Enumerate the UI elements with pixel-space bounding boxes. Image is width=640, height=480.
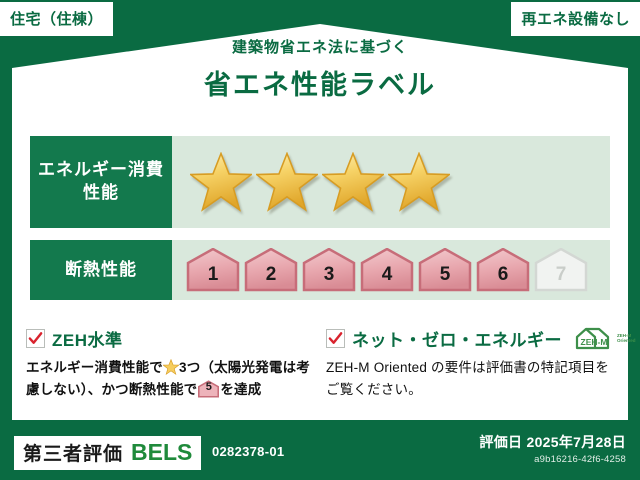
evaluation-id: a9b16216-42f6-4258 — [534, 454, 626, 465]
insulation-grade-scale: 1 2 3 4 5 6 — [172, 240, 610, 300]
house-grade-icon: 3 — [302, 248, 356, 292]
net-zero-energy-title: ネット・ゼロ・エネルギー — [352, 326, 562, 351]
zeh-standard-body: エネルギー消費性能で3つ（太陽光発電は考慮しない）、かつ断熱性能で5を達成 — [26, 357, 316, 401]
house-grade-icon: 1 — [186, 248, 240, 292]
zeh-m-logo-caption: ZEH-M Oriented — [617, 333, 636, 343]
net-zero-energy-note: ネット・ゼロ・エネルギー ZEH-M ZEH-M Oriented ZEH-M … — [326, 326, 616, 401]
zeh-body-part3: を達成 — [220, 382, 261, 397]
bels-badge: 第三者評価 BELS — [14, 436, 201, 470]
svg-text:ZEH-M: ZEH-M — [581, 337, 608, 347]
grade-value: 6 — [498, 264, 509, 292]
energy-performance-label: エネルギー消費性能 — [30, 136, 172, 228]
zeh-checkbox — [26, 329, 45, 348]
energy-performance-row: エネルギー消費性能 — [30, 136, 610, 228]
grade-value: 5 — [440, 264, 451, 292]
grade-value: 1 — [208, 264, 219, 292]
page-title: 省エネ性能ラベル — [0, 63, 640, 102]
grade-value: 4 — [382, 264, 393, 292]
net-zero-energy-body: ZEH-M Oriented の要件は評価書の特記項目をご覧ください。 — [326, 357, 616, 401]
bels-jp-label: 第三者評価 — [23, 439, 123, 466]
title-subtitle: 建築物省エネ法に基づく — [0, 36, 640, 57]
building-type-tag: 住宅（住棟） — [0, 2, 113, 36]
zeh-standard-title: ZEH水準 — [52, 326, 123, 351]
energy-performance-label: 住宅（住棟） 再エネ設備なし 建築物省エネ法に基づく 省エネ性能ラベル エネルギ… — [0, 0, 640, 480]
star-icon — [388, 152, 450, 212]
zeh-m-caption-line2: Oriented — [617, 338, 636, 343]
label-title-group: 建築物省エネ法に基づく 省エネ性能ラベル — [0, 36, 640, 102]
check-icon — [28, 331, 43, 346]
footer-bar: 第三者評価 BELS 0282378-01 評価日 2025年7月28日 a9b… — [0, 424, 640, 480]
zeh-m-house-icon: ZEH-M ZEH-M Oriented — [573, 326, 636, 350]
bels-en-label: BELS — [131, 439, 192, 466]
check-icon — [328, 331, 343, 346]
house-grade-icon: 2 — [244, 248, 298, 292]
renewable-equipment-tag: 再エネ設備なし — [511, 2, 640, 36]
insulation-performance-row: 断熱性能 1 2 3 4 — [30, 240, 610, 300]
star-icon — [322, 152, 384, 212]
star-icon — [256, 152, 318, 212]
star-icon — [190, 152, 252, 212]
zeh-standard-note: ZEH水準 エネルギー消費性能で3つ（太陽光発電は考慮しない）、かつ断熱性能で5… — [26, 326, 316, 401]
grade-value: 7 — [556, 264, 567, 292]
house-grade-icon: 7 — [534, 248, 588, 292]
evaluation-date: 評価日 2025年7月28日 — [479, 432, 626, 452]
house-grade-icon: 5 — [418, 248, 472, 292]
house-grade-icon: 4 — [360, 248, 414, 292]
star-icon — [163, 359, 179, 375]
grade-value: 2 — [266, 264, 277, 292]
energy-performance-stars — [172, 136, 610, 228]
grade-value: 3 — [324, 264, 335, 292]
zeh-body-part1: エネルギー消費性能で — [26, 360, 163, 375]
house-grade-icon: 6 — [476, 248, 530, 292]
net-zero-energy-heading: ネット・ゼロ・エネルギー ZEH-M ZEH-M Oriented — [326, 326, 616, 350]
zeh-standard-heading: ZEH水準 — [26, 326, 316, 350]
net-zero-checkbox — [326, 329, 345, 348]
grade-value: 5 — [198, 380, 219, 398]
insulation-performance-label: 断熱性能 — [30, 240, 172, 300]
house-grade-icon: 5 — [198, 380, 219, 398]
bels-number: 0282378-01 — [212, 444, 284, 459]
